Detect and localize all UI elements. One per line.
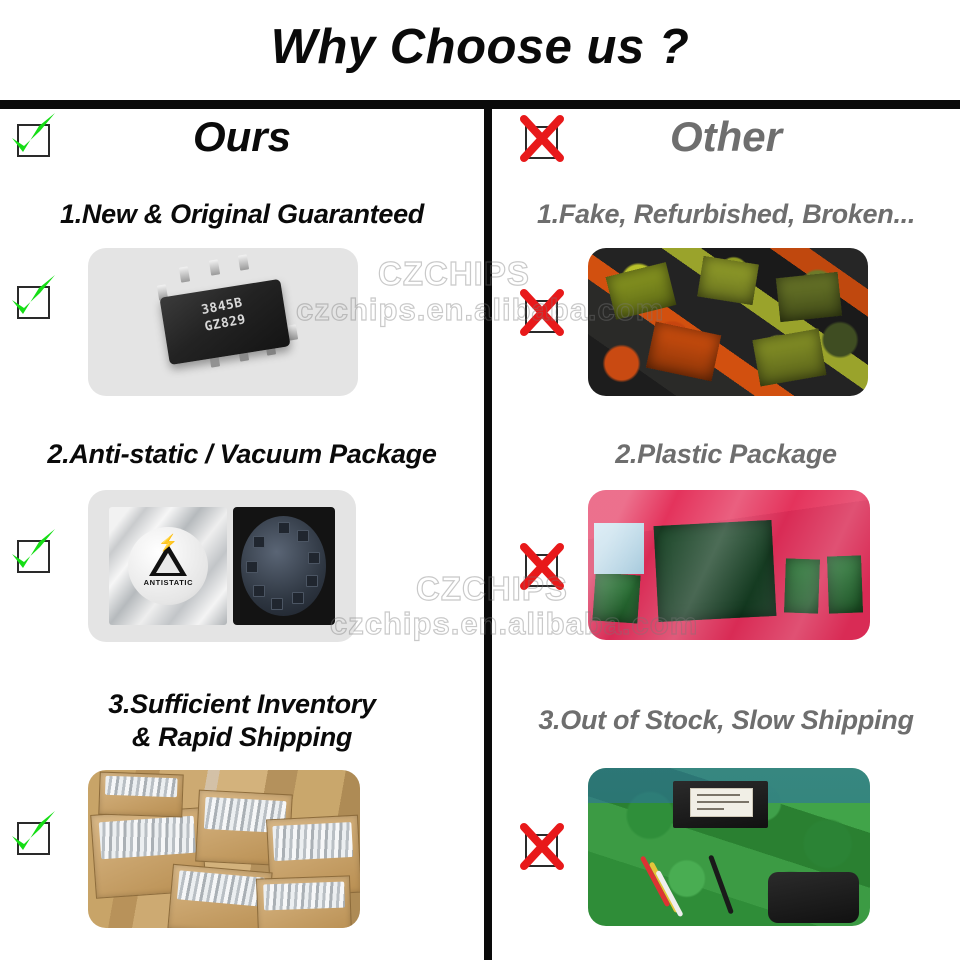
check-mark-icon [6,806,62,862]
antistatic-label-text: ANTISTATIC [144,578,193,587]
photo-green-pcb-scrap-pile [588,768,870,926]
row-1-other-title: 1.Fake, Refurbished, Broken... [492,198,960,231]
photo-antistatic-bag-and-reel: ⚡ ANTISTATIC [88,490,356,642]
column-label-other: Other [492,108,960,166]
page-title: Why Choose us ? [0,22,960,73]
row-2-other-title: 2.Plastic Package [492,438,960,471]
lightning-bolt-icon: ⚡ [158,536,178,552]
x-mark-icon [514,284,570,340]
row-1-other: 1.Fake, Refurbished, Broken... [492,198,960,418]
photo-chip-close-up: 3845B GZ829 [88,248,358,396]
black-module [673,781,769,828]
check-mark-row-1 [12,280,52,320]
row-3-other-title: 3.Out of Stock, Slow Shipping [492,704,960,737]
check-mark-row-2 [12,534,52,574]
x-mark-row-1 [520,294,560,334]
check-mark-icon [6,270,62,326]
x-mark-icon [514,538,570,594]
check-mark-row-3 [12,816,52,856]
antistatic-warning-label: ⚡ ANTISTATIC [128,527,208,605]
row-3-other: 3.Out of Stock, Slow Shipping [492,688,960,950]
photo-pcb-in-pink-plastic-bag [588,490,870,640]
module-sticker [690,788,753,817]
row-2-other: 2.Plastic Package [492,438,960,663]
antistatic-bag: ⚡ ANTISTATIC [109,507,227,626]
column-label-ours: Ours [0,108,484,166]
x-mark-row-3 [520,828,560,868]
row-1-ours-title: 1.New & Original Guaranteed [0,198,484,231]
photo-cartons-of-stock [88,770,360,928]
row-3-ours: 3.Sufficient Inventory & Rapid Shipping [0,688,484,950]
tape-reel-tray [233,507,335,626]
row-3-ours-title-line-1: 3.Sufficient Inventory [0,688,484,721]
check-mark-icon [6,524,62,580]
column-header-ours: Ours [0,108,484,174]
row-3-ours-title-line-2: & Rapid Shipping [0,721,484,754]
column-divider-rule [484,100,492,960]
row-2-ours-title: 2.Anti-static / Vacuum Package [0,438,484,471]
column-header-other: Other [492,108,960,174]
high-voltage-triangle-icon: ⚡ [149,544,187,576]
photo-scrap-chips-pile [588,248,868,396]
x-mark-row-2 [520,548,560,588]
row-2-ours: 2.Anti-static / Vacuum Package ⚡ ANTISTA… [0,438,484,663]
x-mark-icon [514,818,570,874]
row-1-ours: 1.New & Original Guaranteed 3845B GZ829 [0,198,484,418]
